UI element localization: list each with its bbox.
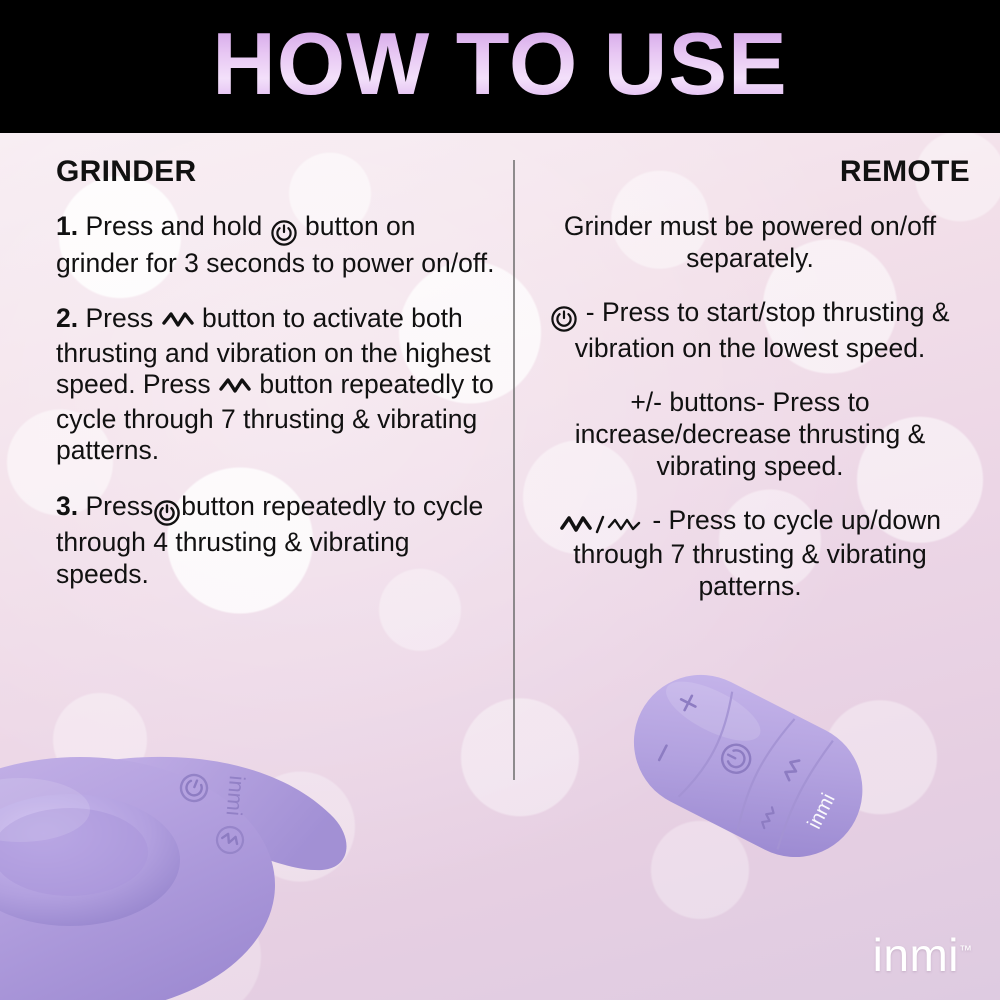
remote-item-plusminus: +/- buttons- Press to increase/decrease … xyxy=(530,387,970,482)
grinder-step-1-number: 1. xyxy=(56,211,78,241)
column-divider xyxy=(513,160,515,780)
wave-icon xyxy=(161,306,195,338)
power-icon xyxy=(153,496,181,528)
power-icon xyxy=(270,216,298,248)
wave-pair-icon xyxy=(559,508,645,540)
grinder-step-3: 3. Press button repeatedly to cycle thro… xyxy=(56,491,496,591)
header-banner: HOW TO USE xyxy=(0,0,1000,133)
grinder-step-2-number: 2. xyxy=(56,303,78,333)
grinder-column-title: GRINDER xyxy=(56,155,496,189)
remote-column-title: REMOTE xyxy=(530,155,970,189)
grinder-step-3-text-before: Press xyxy=(85,491,153,521)
poster-root: HOW TO USE xyxy=(0,0,1000,1000)
wave-icon xyxy=(218,372,252,404)
grinder-step-3-number: 3. xyxy=(56,491,78,521)
grinder-step-2: 2. Press button to activate both thrusti… xyxy=(56,303,496,467)
plus-minus-label: +/- buttons- xyxy=(630,387,765,417)
remote-item-power: - Press to start/stop thrusting & vibrat… xyxy=(530,297,970,366)
grinder-step-2-text-before: Press xyxy=(85,303,153,333)
trademark-symbol: ™ xyxy=(959,943,972,958)
power-icon xyxy=(550,302,578,334)
remote-item-patterns: - Press to cycle up/down through 7 thrus… xyxy=(530,505,970,603)
grinder-step-1: 1. Press and hold button on grinder for … xyxy=(56,211,496,279)
remote-column: REMOTE Grinder must be powered on/off se… xyxy=(530,155,970,603)
remote-item-power-text: - Press to start/stop thrusting & vibrat… xyxy=(575,297,950,364)
remote-intro: Grinder must be powered on/off separatel… xyxy=(530,211,970,275)
instructions-area: GRINDER 1. Press and hold button on grin… xyxy=(0,133,1000,1000)
grinder-column: GRINDER 1. Press and hold button on grin… xyxy=(56,155,496,590)
grinder-step-1-text-before: Press and hold xyxy=(85,211,262,241)
brand-logo-text: inmi xyxy=(873,929,959,981)
page-title: HOW TO USE xyxy=(212,20,788,114)
brand-logo: inmi™ xyxy=(873,928,972,982)
